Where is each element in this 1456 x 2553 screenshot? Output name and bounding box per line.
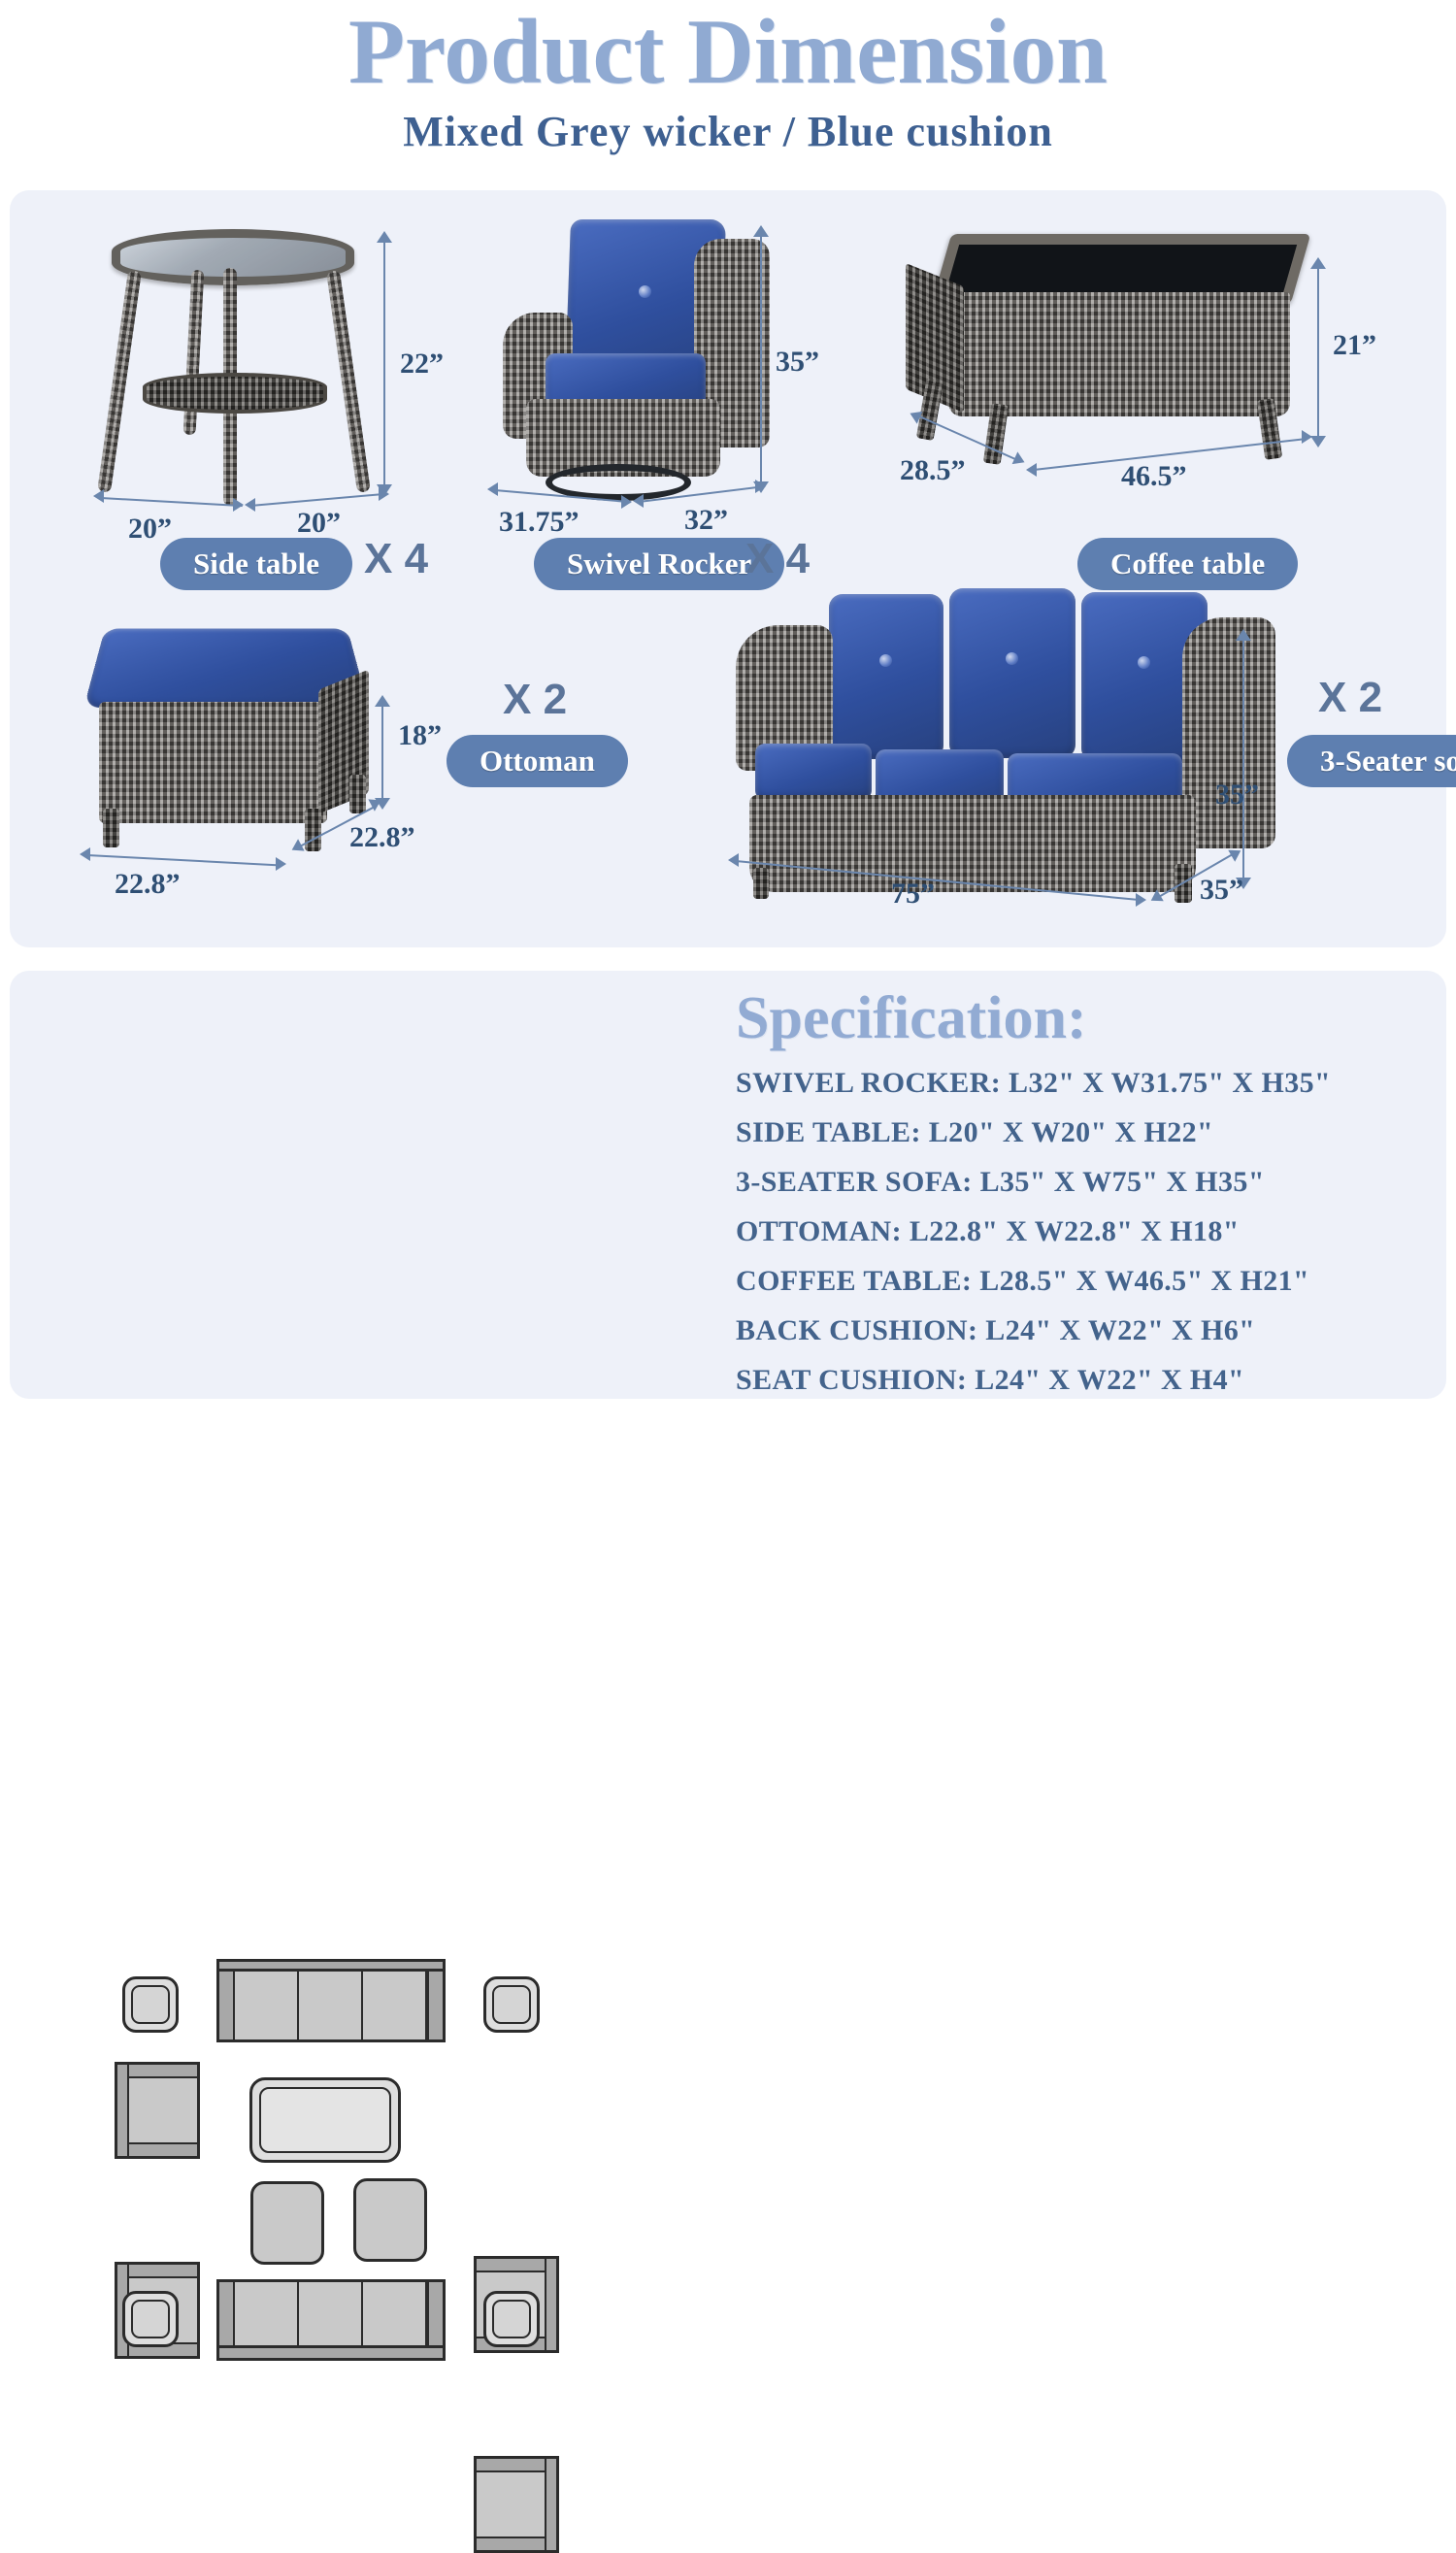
dim-line-width: [87, 854, 281, 866]
layout-side-table-top-right: [483, 1976, 540, 2033]
product-multiplier-ottoman: X 2: [503, 676, 567, 724]
page-subtitle: Mixed Grey wicker / Blue cushion: [0, 107, 1456, 156]
dim-line-depth: [250, 493, 388, 507]
spec-line-ottoman: OTTOMAN: L22.8" X W22.8" X H18": [736, 1215, 1435, 1248]
layout-coffee-table-center: [249, 2077, 401, 2163]
ottoman-body: [99, 702, 327, 823]
bottom-panel: Specification: SWIVEL ROCKER: L32" X W31…: [10, 971, 1446, 1399]
specification-title: Specification:: [736, 984, 1435, 1053]
arrowhead-right: [379, 487, 389, 501]
arrowhead-right: [621, 495, 632, 509]
product-label-three-seater-sofa[interactable]: 3-Seater sofa: [1287, 735, 1456, 787]
layout-sofa-bottom-back: [216, 2345, 446, 2361]
spec-line-three-seater-sofa: 3-SEATER SOFA: L35" X W75" X H35": [736, 1166, 1435, 1199]
product-ottoman: 18” 22.8” 22.8”: [68, 610, 456, 901]
dim-label-width: 31.75”: [499, 506, 579, 539]
layout-sofa-top: [216, 1969, 446, 2042]
coffee-table-front-panel: [948, 292, 1290, 416]
layout-diagram: [115, 1953, 707, 2361]
product-coffee-table: 21” 28.5” 46.5”: [898, 224, 1383, 515]
sofa-seat-cushion: [755, 744, 872, 800]
sofa-right-arm: [1182, 617, 1275, 848]
product-side-table: 22” 20” 20”: [87, 210, 408, 520]
layout-side-table-inner: [492, 1985, 531, 2024]
layout-sofa-arm-left: [219, 2282, 235, 2350]
product-multiplier-side-table: X 4: [364, 535, 428, 583]
dim-label-height: 18”: [398, 719, 442, 752]
dim-label-height: 21”: [1333, 329, 1376, 362]
layout-swivel-rocker-left-upper: [115, 2062, 200, 2159]
side-table-lower-shelf: [143, 373, 327, 414]
layout-side-table-inner: [492, 2300, 531, 2338]
dim-label-width: 20”: [128, 513, 172, 546]
layout-ottoman-right: [353, 2178, 427, 2262]
ottoman-leg: [349, 775, 366, 813]
arrowhead-right: [1136, 893, 1146, 907]
layout-sofa-seat: [235, 1972, 299, 2039]
layout-chair-back: [545, 2259, 556, 2350]
layout-chair-back: [545, 2459, 556, 2550]
layout-side-table-inner: [131, 2300, 170, 2338]
layout-chair-top-rail: [477, 2259, 545, 2272]
product-swivel-rocker: 35” 31.75” 32”: [485, 210, 796, 520]
layout-side-table-bottom-right: [483, 2291, 540, 2347]
layout-chair-front-rail: [129, 2142, 197, 2156]
dim-label-depth: 35”: [1200, 874, 1243, 907]
layout-sofa-seat: [363, 2282, 427, 2350]
dim-line-height: [1242, 637, 1244, 879]
arrowhead-left: [245, 498, 255, 512]
arrowhead-right: [755, 480, 766, 493]
layout-chair-top-rail: [129, 2065, 197, 2078]
cushion-tuft: [879, 654, 892, 667]
ottoman-leg: [103, 809, 119, 847]
dim-label-height: 35”: [1215, 779, 1259, 812]
arrowhead-left: [487, 482, 498, 496]
dim-line-height: [760, 233, 762, 483]
layout-sofa-bottom: [216, 2279, 446, 2353]
layout-side-table-bottom-left: [122, 2291, 179, 2347]
arrowhead-up: [377, 231, 392, 243]
dim-label-depth: 20”: [297, 507, 341, 540]
cushion-tuft: [1006, 652, 1018, 665]
ottoman-leg: [305, 809, 321, 851]
arrowhead-up: [1310, 257, 1326, 269]
arrowhead-up: [375, 695, 390, 707]
dim-label-width: 22.8”: [115, 868, 181, 901]
layout-chair-back: [117, 2065, 129, 2156]
dim-line-height: [383, 239, 385, 486]
product-label-ottoman[interactable]: Ottoman: [447, 735, 628, 787]
spec-line-coffee-table: COFFEE TABLE: L28.5" X W46.5" X H21": [736, 1265, 1435, 1298]
layout-coffee-table-inner: [259, 2087, 391, 2153]
arrowhead-down: [1310, 436, 1326, 448]
layout-chair-top-rail: [129, 2265, 197, 2278]
dim-line-width: [101, 497, 243, 507]
dim-label-depth: 28.5”: [900, 454, 966, 487]
spec-line-side-table: SIDE TABLE: L20" X W20" X H22": [736, 1116, 1435, 1149]
layout-sofa-arm-right: [427, 1972, 443, 2039]
arrowhead-left: [728, 853, 739, 867]
dim-label-height: 22”: [400, 348, 444, 381]
layout-sofa-seat: [299, 2282, 363, 2350]
spec-line-back-cushion: BACK CUSHION: L24" X W22" X H6": [736, 1314, 1435, 1347]
arrowhead-left: [288, 839, 304, 856]
layout-sofa-seat: [299, 1972, 363, 2039]
sofa-back-cushion: [829, 594, 943, 759]
page-title: Product Dimension: [0, 4, 1456, 101]
arrowhead-up: [753, 225, 769, 237]
cushion-tuft: [1138, 656, 1150, 669]
dim-label-height: 35”: [776, 346, 819, 379]
spec-line-swivel-rocker: SWIVEL ROCKER: L32" X W31.75" X H35": [736, 1067, 1435, 1100]
sofa-base: [749, 795, 1196, 892]
product-multiplier-sofa: X 2: [1318, 674, 1382, 722]
dim-label-width: 75”: [891, 878, 935, 911]
dimensions-panel: 22” 20” 20” Side table X 4 35” 31: [10, 190, 1446, 947]
side-table-leg: [326, 270, 371, 493]
arrowhead-right: [1302, 430, 1312, 444]
dim-label-depth: 22.8”: [349, 821, 415, 854]
layout-side-table-inner: [131, 1985, 170, 2024]
dim-label-width: 46.5”: [1121, 460, 1187, 493]
arrowhead-left: [93, 489, 104, 503]
product-label-side-table[interactable]: Side table: [160, 538, 352, 590]
cushion-tuft: [639, 285, 651, 298]
specification-block: Specification: SWIVEL ROCKER: L32" X W31…: [736, 984, 1435, 1413]
dim-line-height: [381, 703, 383, 800]
arrowhead-left: [1026, 463, 1037, 477]
arrowhead-right: [1012, 451, 1028, 468]
dim-label-depth: 32”: [684, 504, 728, 537]
dim-line-height: [1317, 265, 1319, 438]
layout-side-table-top-left: [122, 1976, 179, 2033]
layout-sofa-seat: [235, 2282, 299, 2350]
arrowhead-right: [276, 857, 286, 871]
side-table-leg: [97, 270, 142, 493]
layout-swivel-rocker-right-lower: [474, 2456, 559, 2553]
product-three-seater-sofa: 35” 75” 35”: [718, 577, 1281, 926]
arrowhead-left: [633, 494, 644, 508]
arrowhead-up: [1236, 629, 1251, 641]
page-header: Product Dimension Mixed Grey wicker / Bl…: [0, 0, 1456, 156]
sofa-leg: [753, 868, 769, 899]
layout-sofa-seat: [363, 1972, 427, 2039]
layout-chair-top-rail: [477, 2459, 545, 2472]
layout-sofa-arm-right: [427, 2282, 443, 2350]
layout-chair-front-rail: [477, 2536, 545, 2550]
sofa-back-cushion: [949, 588, 1075, 758]
layout-ottoman-left: [250, 2181, 324, 2265]
arrowhead-left: [80, 847, 90, 861]
spec-line-seat-cushion: SEAT CUSHION: L24" X W22" X H4": [736, 1364, 1435, 1397]
arrowhead-right: [233, 498, 244, 512]
layout-sofa-arm-left: [219, 1972, 235, 2039]
